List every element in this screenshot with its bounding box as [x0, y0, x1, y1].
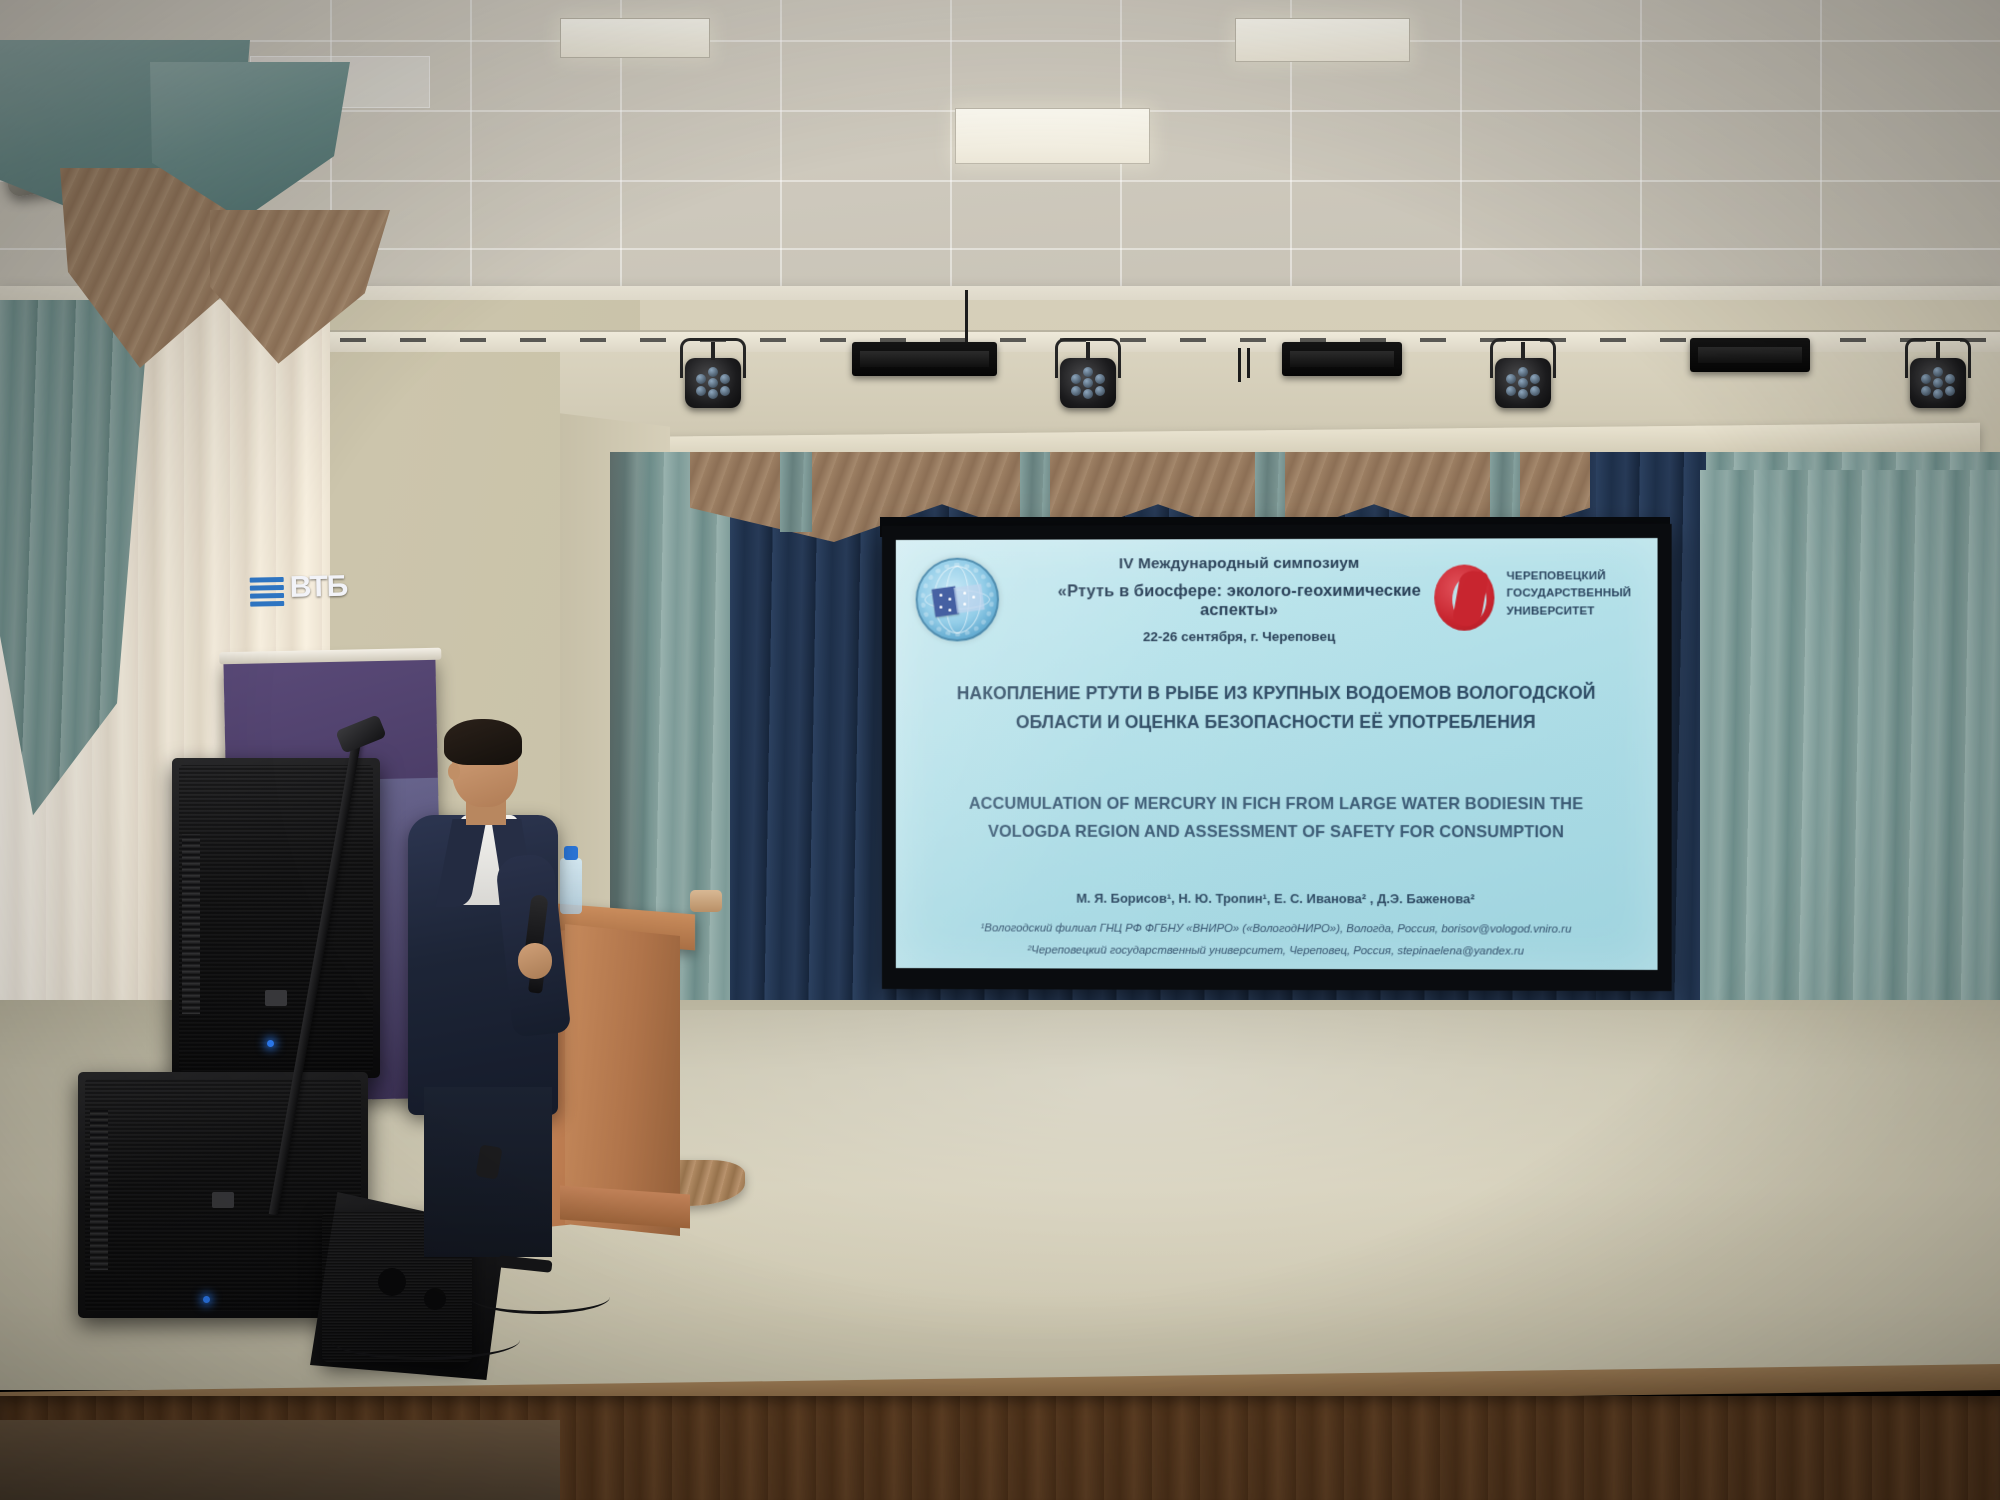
presenter-hand: [518, 943, 552, 979]
conference-hall-scene: IV Международный симпозиум «Ртуть в биос…: [0, 0, 2000, 1500]
slide-header: IV Международный симпозиум «Ртуть в биос…: [896, 548, 1658, 645]
speaker-side-vent: [182, 834, 200, 1014]
university-logo: ЧЕРЕПОВЕЦКИЙ ГОСУДАРСТВЕННЫЙ УНИВЕРСИТЕТ: [1428, 556, 1641, 641]
uni-line-1: ЧЕРЕПОВЕЦКИЙ: [1507, 568, 1642, 586]
wedge-port: [378, 1268, 406, 1296]
slide-title-russian: НАКОПЛЕНИЕ РТУТИ В РЫБЕ ИЗ КРУПНЫХ ВОДОЕ…: [935, 679, 1617, 736]
slide-affiliation-2: ²Череповецкий государственный университе…: [914, 942, 1640, 961]
symposium-date-line: 22-26 сентября, г. Череповец: [1025, 629, 1454, 645]
presenter-ear: [448, 763, 460, 780]
university-name-text: ЧЕРЕПОВЕЦКИЙ ГОСУДАРСТВЕННЫЙ УНИВЕРСИТЕТ: [1507, 568, 1642, 621]
stage-valance-teal-strip: [1255, 452, 1285, 526]
projection-screen: IV Международный симпозиум «Ртуть в биос…: [882, 524, 1672, 991]
hanging-cable: [1247, 348, 1250, 378]
emblem-star: [963, 592, 966, 595]
globe-flags-emblem-icon: [916, 558, 999, 642]
podium-item: [690, 890, 722, 912]
led-par-can-icon: [1910, 358, 1966, 408]
slide-affiliation-1: ¹Вологодский филиал ГНЦ РФ ФГБНУ «ВНИРО»…: [914, 920, 1640, 939]
uni-line-2: ГОСУДАРСТВЕННЫЙ: [1507, 586, 1642, 604]
par-led-array: [1504, 367, 1542, 399]
wedge-port: [424, 1288, 446, 1310]
cherepovets-university-mark-icon: [1432, 560, 1498, 634]
slide-authors: М. Я. Борисов¹, Н. Ю. Тропин¹, Е. С. Ива…: [926, 890, 1628, 906]
ceiling-light-panel: [1235, 18, 1410, 62]
jbl-logo-icon: [265, 990, 287, 1006]
slide-header-text: IV Международный симпозиум «Ртуть в биос…: [1025, 555, 1454, 645]
emblem-star: [972, 596, 975, 599]
emblem-star: [939, 606, 942, 609]
hanging-cable: [965, 290, 968, 342]
symposium-theme-line: «Ртуть в биосфере: эколого-геохимические…: [1025, 582, 1454, 621]
title-en-line-2: VOLOGDA REGION AND ASSESSMENT OF SAFETY …: [935, 818, 1617, 846]
par-led-array: [694, 367, 732, 399]
ceiling-light-panel: [560, 18, 710, 58]
title-en-line-1: ACCUMULATION OF MERCURY IN FICH FROM LAR…: [935, 791, 1617, 819]
speaker-power-led: [267, 1040, 274, 1047]
house-floor: [0, 1420, 560, 1500]
vtb-logo: ВТБ: [250, 568, 411, 617]
symposium-number-line: IV Международный симпозиум: [1025, 555, 1454, 574]
ceiling-light-panel: [955, 108, 1150, 164]
par-led-array: [1069, 367, 1107, 399]
hanging-cable: [1238, 348, 1241, 382]
par-led-array: [1919, 367, 1957, 399]
ceiling-fixture: [1690, 338, 1810, 372]
emblem-star: [948, 598, 951, 601]
led-par-can-icon: [1495, 358, 1551, 408]
emblem-star: [939, 594, 942, 597]
floor-cable: [330, 1320, 520, 1360]
title-ru-line-2: ОБЛАСТИ И ОЦЕНКА БЕЗОПАСНОСТИ ЕЁ УПОТРЕБ…: [935, 707, 1617, 736]
floor-cable: [470, 1280, 610, 1314]
speaker-side-vent: [90, 1110, 108, 1270]
stage-valance-teal-strip: [780, 452, 812, 532]
uni-line-3: УНИВЕРСИТЕТ: [1507, 603, 1642, 621]
emblem-flag-light: [954, 584, 985, 614]
ceiling-fixture: [852, 342, 997, 376]
emblem-star: [963, 603, 966, 606]
projector-unit: [1282, 342, 1402, 376]
stage-valance-teal-strip: [1490, 452, 1520, 524]
vtb-bars-icon: [250, 577, 285, 608]
emblem-star: [948, 609, 951, 612]
speaker-power-led: [203, 1296, 210, 1303]
vtb-logo-text: ВТБ: [290, 570, 348, 605]
led-par-can-icon: [685, 358, 741, 408]
presentation-slide: IV Международный симпозиум «Ртуть в биос…: [896, 538, 1658, 970]
slide-title-english: ACCUMULATION OF MERCURY IN FICH FROM LAR…: [935, 791, 1617, 847]
presenter-hair: [444, 719, 522, 765]
jbl-logo-icon: [212, 1192, 234, 1208]
title-ru-line-1: НАКОПЛЕНИЕ РТУТИ В РЫБЕ ИЗ КРУПНЫХ ВОДОЕ…: [935, 679, 1617, 708]
led-par-can-icon: [1060, 358, 1116, 408]
